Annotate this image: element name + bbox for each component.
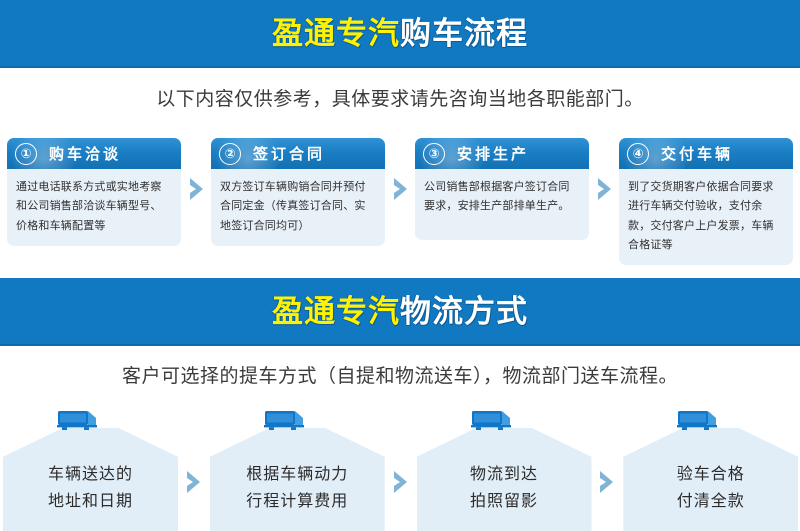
brand-name: 盈通专汽 bbox=[272, 294, 400, 329]
logistics-card-3[interactable]: 物流到达 拍照留影 bbox=[417, 408, 591, 531]
purchase-step-number-1: ① bbox=[15, 143, 37, 165]
logistics-card-text-2: 根据车辆动力 行程计算费用 bbox=[246, 462, 348, 515]
truck-icon bbox=[55, 408, 101, 436]
chevron-right-icon bbox=[188, 177, 205, 201]
logistics-card-line1-1: 车辆送达的 bbox=[48, 462, 133, 488]
purchase-step-title-3: 安排生产 bbox=[457, 143, 529, 164]
truck-icon bbox=[469, 408, 515, 436]
purchase-step-title-2: 签订合同 bbox=[253, 143, 325, 164]
purchase-step-card-1[interactable]: ① 购车洽谈 通过电话联系方式或实地考察和公司销售部洽谈车辆型号、价格和车辆配置… bbox=[7, 138, 181, 246]
purchase-banner-subject: 购车流程 bbox=[400, 16, 528, 51]
logistics-card-line2-2: 行程计算费用 bbox=[246, 489, 348, 515]
logistics-banner: 盈通专汽物流方式 bbox=[0, 278, 800, 346]
purchase-step-title-1: 购车洽谈 bbox=[49, 143, 121, 164]
purchase-step-arrow-1 bbox=[181, 138, 211, 240]
logistics-card-4[interactable]: 验车合格 付清全款 bbox=[623, 408, 797, 531]
purchase-step-number-4: ④ bbox=[627, 143, 649, 165]
purchase-step-header-3: ③ 安排生产 bbox=[415, 138, 589, 169]
logistics-card-1[interactable]: 车辆送达的 地址和日期 bbox=[3, 408, 177, 531]
logistics-card-line1-4: 验车合格 bbox=[677, 462, 745, 488]
purchase-step-header-4: ④ 交付车辆 bbox=[619, 138, 793, 169]
purchase-step-body-3: 公司销售部根据客户签订合同要求，安排生产部排单生产。 bbox=[415, 169, 589, 240]
logistics-card-line2-3: 拍照留影 bbox=[470, 489, 538, 515]
logistics-card-line1-3: 物流到达 bbox=[470, 462, 538, 488]
purchase-step-title-4: 交付车辆 bbox=[661, 143, 733, 164]
purchase-step-body-1: 通过电话联系方式或实地考察和公司销售部洽谈车辆型号、价格和车辆配置等 bbox=[7, 169, 181, 246]
chevron-right-icon bbox=[392, 177, 409, 201]
logistics-card-text-1: 车辆送达的 地址和日期 bbox=[48, 462, 133, 515]
logistics-card-line2-1: 地址和日期 bbox=[48, 489, 133, 515]
logistics-banner-title: 盈通专汽物流方式 bbox=[272, 296, 528, 327]
logistics-card-shape-3: 物流到达 拍照留影 bbox=[417, 428, 592, 531]
logistics-card-shape-1: 车辆送达的 地址和日期 bbox=[3, 428, 178, 531]
chevron-right-icon bbox=[598, 470, 615, 494]
logistics-card-2[interactable]: 根据车辆动力 行程计算费用 bbox=[210, 408, 384, 531]
logistics-subtitle: 客户可选择的提车方式（自提和物流送车），物流部门送车流程。 bbox=[0, 361, 800, 388]
logistics-card-text-4: 验车合格 付清全款 bbox=[677, 462, 745, 515]
purchase-step-number-3: ③ bbox=[423, 143, 445, 165]
logistics-card-text-3: 物流到达 拍照留影 bbox=[470, 462, 538, 515]
truck-icon bbox=[675, 408, 721, 436]
purchase-step-number-2: ② bbox=[219, 143, 241, 165]
logistics-card-line2-4: 付清全款 bbox=[677, 489, 745, 515]
logistics-card-line1-2: 根据车辆动力 bbox=[246, 462, 348, 488]
logistics-card-shape-2: 根据车辆动力 行程计算费用 bbox=[210, 428, 385, 531]
purchase-step-header-2: ② 签订合同 bbox=[211, 138, 385, 169]
chevron-right-icon bbox=[392, 470, 409, 494]
purchase-step-card-4[interactable]: ④ 交付车辆 到了交货期客户依据合同要求进行车辆交付验收，支付余款，交付客户上户… bbox=[619, 138, 793, 265]
logistics-arrow-1 bbox=[177, 408, 210, 531]
purchase-steps-row: ① 购车洽谈 通过电话联系方式或实地考察和公司销售部洽谈车辆型号、价格和车辆配置… bbox=[0, 138, 800, 240]
chevron-right-icon bbox=[596, 177, 613, 201]
brand-name: 盈通专汽 bbox=[272, 16, 400, 51]
purchase-step-card-3[interactable]: ③ 安排生产 公司销售部根据客户签订合同要求，安排生产部排单生产。 bbox=[415, 138, 589, 240]
truck-icon bbox=[262, 408, 308, 436]
chevron-right-icon bbox=[185, 470, 202, 494]
logistics-card-shape-4: 验车合格 付清全款 bbox=[623, 428, 798, 531]
purchase-step-arrow-2 bbox=[385, 138, 415, 240]
logistics-arrow-3 bbox=[590, 408, 623, 531]
purchase-step-body-4: 到了交货期客户依据合同要求进行车辆交付验收，支付余款，交付客户上户发票，车辆合格… bbox=[619, 169, 793, 265]
purchase-subtitle: 以下内容仅供参考，具体要求请先咨询当地各职能部门。 bbox=[0, 84, 800, 111]
purchase-step-card-2[interactable]: ② 签订合同 双方签订车辆购销合同并预付合同定金（传真签订合同、实地签订合同均可… bbox=[211, 138, 385, 246]
logistics-banner-subject: 物流方式 bbox=[400, 294, 528, 329]
logistics-arrow-2 bbox=[384, 408, 417, 531]
purchase-banner: 盈通专汽购车流程 bbox=[0, 0, 800, 68]
purchase-banner-title: 盈通专汽购车流程 bbox=[272, 18, 528, 49]
purchase-step-body-2: 双方签订车辆购销合同并预付合同定金（传真签订合同、实地签订合同均可） bbox=[211, 169, 385, 246]
purchase-step-header-1: ① 购车洽谈 bbox=[7, 138, 181, 169]
purchase-step-arrow-3 bbox=[589, 138, 619, 240]
logistics-cards-row: 车辆送达的 地址和日期 根据车辆动力 行程计算费用 bbox=[0, 408, 800, 531]
